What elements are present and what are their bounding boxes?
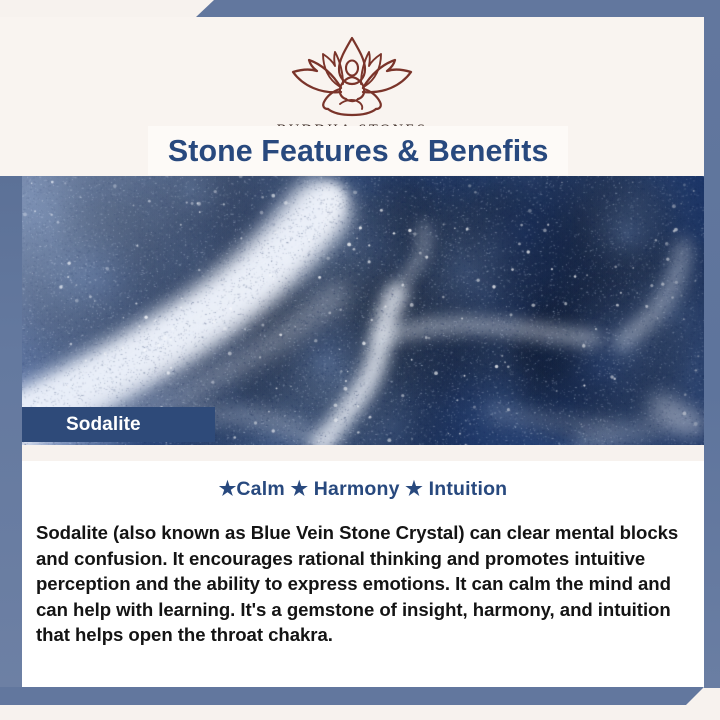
stone-label-bar: Sodalite — [22, 407, 215, 442]
stone-image — [22, 176, 704, 445]
lotus-meditation-icon — [277, 28, 427, 120]
top-accent-bar — [196, 0, 720, 17]
image-content-divider — [22, 445, 704, 461]
stone-info-poster: BUDDHA STONES Stone Features & Benefits … — [0, 0, 720, 720]
right-accent-bar — [704, 17, 720, 688]
brand-logo: BUDDHA STONES — [0, 28, 704, 139]
bottom-cream-strip — [0, 705, 720, 720]
stone-image-canvas — [22, 176, 704, 445]
content-panel: ★Calm ★ Harmony ★ Intuition Sodalite (al… — [22, 461, 704, 688]
bottom-accent-bar — [0, 687, 704, 705]
page-title: Stone Features & Benefits — [168, 133, 549, 169]
stone-name: Sodalite — [66, 414, 141, 436]
stone-description: Sodalite (also known as Blue Vein Stone … — [36, 520, 688, 648]
left-accent-bar — [0, 176, 22, 688]
keyword-list: ★Calm ★ Harmony ★ Intuition — [22, 477, 704, 501]
title-band: Stone Features & Benefits — [148, 126, 568, 175]
